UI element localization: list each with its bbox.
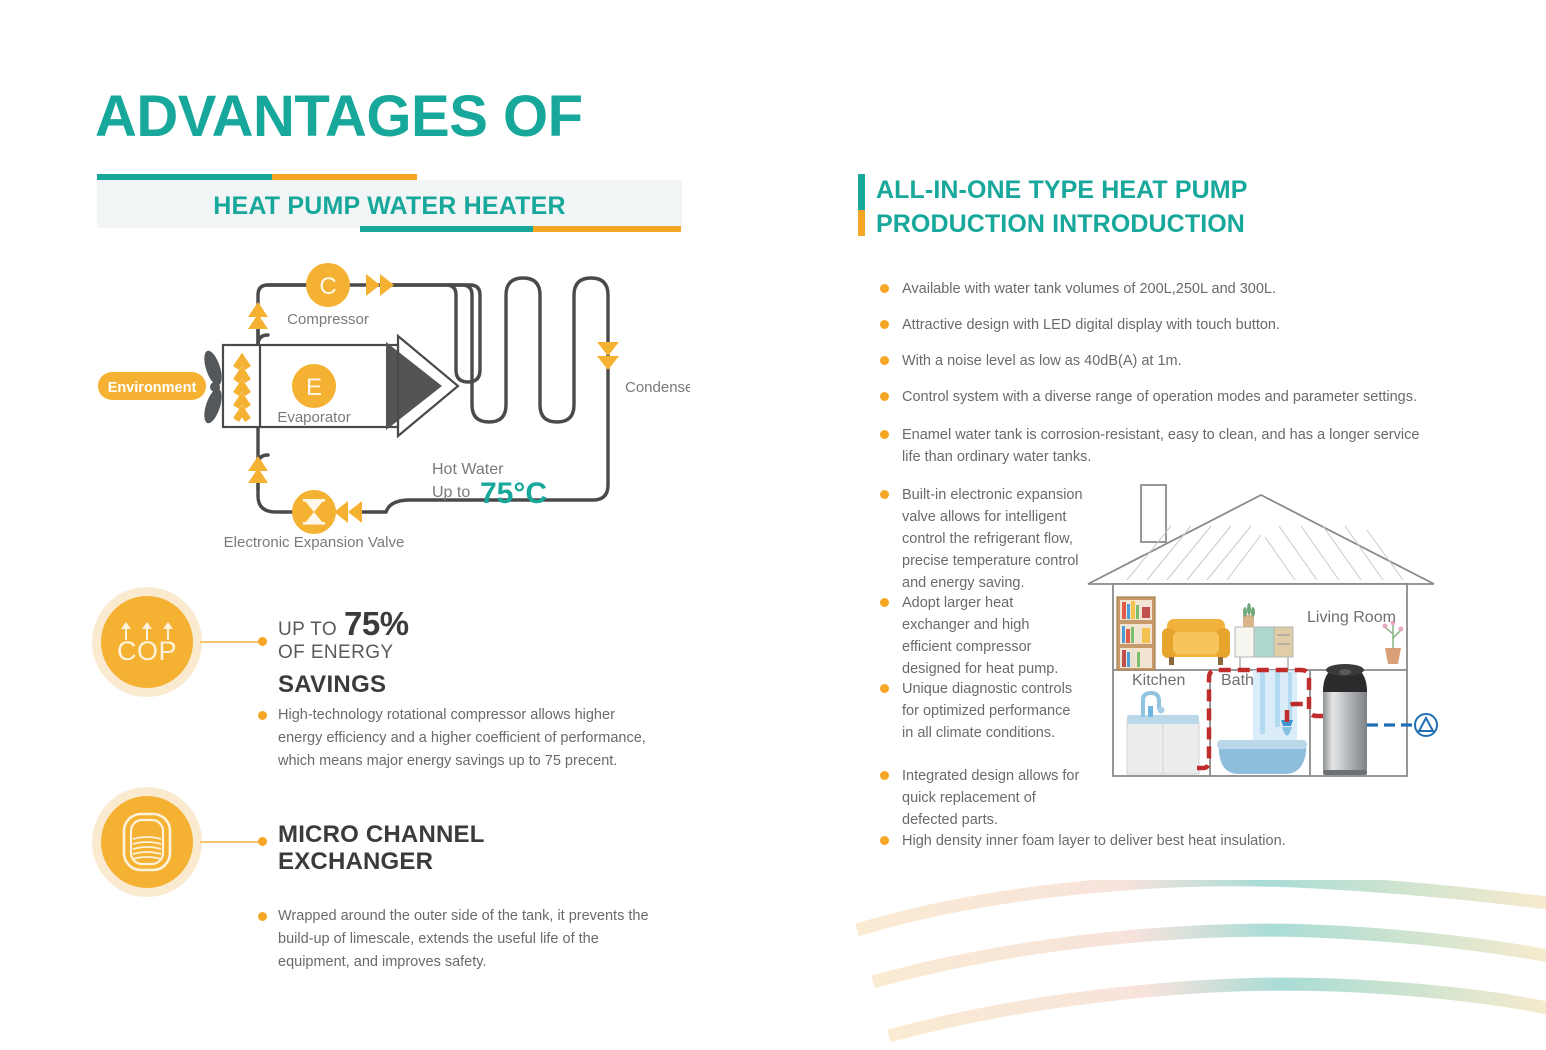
exchanger-note-text: Wrapped around the outer side of the tan…: [278, 905, 658, 974]
list-item: Available with water tank volumes of 200…: [880, 278, 1435, 300]
kpi-prefix: UP TO: [278, 619, 337, 641]
list-item: Enamel water tank is corrosion-resistant…: [880, 424, 1435, 468]
cop-icon: COP: [101, 596, 193, 688]
list-item-text: Enamel water tank is corrosion-resistant…: [902, 424, 1435, 468]
list-item: Built-in electronic expansion valve allo…: [880, 484, 1095, 594]
compressor-label: Compressor: [287, 311, 369, 328]
tank-coil-icon: [101, 796, 193, 888]
exchanger-note: Wrapped around the outer side of the tan…: [258, 905, 658, 974]
infographic-page: ADVANTAGES OF HEAT PUMP WATER HEATER: [0, 0, 1546, 1043]
environment-badge-label: Environment: [108, 380, 197, 396]
list-item-text: High density inner foam layer to deliver…: [902, 830, 1286, 852]
bullet-dot: [258, 711, 267, 720]
list-item-text: Available with water tank volumes of 200…: [902, 278, 1276, 300]
list-item: Control system with a diverse range of o…: [880, 386, 1435, 408]
right-title-accent-bar: [858, 174, 865, 236]
list-item: High density inner foam layer to deliver…: [880, 830, 1435, 852]
bullet-dot: [880, 284, 889, 293]
hot-water-line2: Up to: [432, 484, 470, 501]
list-item-text: Attractive design with LED digital displ…: [902, 314, 1280, 336]
living-room-label: Living Room: [1307, 609, 1396, 626]
svg-text:E: E: [306, 374, 322, 401]
list-item-text: Adopt larger heat exchanger and high eff…: [902, 592, 1080, 680]
cop-connector-dot: [258, 637, 267, 646]
bullet-dot: [880, 836, 889, 845]
cop-connector-line: [200, 641, 261, 643]
rule-top-orange: [272, 174, 417, 180]
kpi-bold: SAVINGS: [278, 671, 409, 699]
list-item-text: Unique diagnostic controls for optimized…: [902, 678, 1080, 744]
bullet-dot: [880, 684, 889, 693]
rule-bottom-teal: [360, 226, 533, 232]
list-item: With a noise level as low as 40dB(A) at …: [880, 350, 1435, 372]
bath-label: Bath: [1221, 672, 1254, 689]
bullet-dot: [880, 598, 889, 607]
condenser-label: Condenser: [625, 379, 690, 396]
page-title: ADVANTAGES OF: [95, 88, 583, 146]
rule-top-teal: [97, 174, 272, 180]
hot-water-value: 75°C: [480, 477, 547, 510]
bullet-dot: [880, 392, 889, 401]
bullet-dot: [880, 320, 889, 329]
refrigeration-cycle-diagram: C E Environment Compressor Evaporator El…: [90, 250, 690, 550]
rule-bottom-orange: [533, 226, 681, 232]
cop-note: High-technology rotational compressor al…: [258, 704, 648, 773]
hot-water-line1: Hot Water: [432, 461, 504, 478]
cop-arrows-icon: [120, 620, 174, 640]
decorative-waves: [845, 880, 1546, 1045]
house-cutaway-illustration: Living Room Kitchen Bath: [1085, 482, 1455, 787]
expansion-valve-label: Electronic Expansion Valve: [224, 534, 405, 550]
bullet-dot: [880, 490, 889, 499]
kpi-value: 75%: [344, 605, 409, 643]
bullet-dot: [258, 912, 267, 921]
cop-icon-label: COP: [117, 638, 177, 665]
cop-kpi: UP TO 75% OF ENERGY SAVINGS: [278, 605, 409, 699]
kpi-sub: OF ENERGY: [278, 642, 409, 664]
list-item: Unique diagnostic controls for optimized…: [880, 678, 1080, 744]
bullet-dot: [880, 771, 889, 780]
list-item-text: With a noise level as low as 40dB(A) at …: [902, 350, 1182, 372]
exchanger-connector-line: [200, 841, 261, 843]
bullet-dot: [880, 430, 889, 439]
list-item-text: Integrated design allows for quick repla…: [902, 765, 1095, 831]
right-section-title: ALL-IN-ONE TYPE HEAT PUMP PRODUCTION INT…: [876, 174, 1396, 241]
exchanger-connector-dot: [258, 837, 267, 846]
list-item: Adopt larger heat exchanger and high eff…: [880, 592, 1080, 680]
tank-coil-glyph: [120, 811, 174, 873]
kitchen-label: Kitchen: [1132, 672, 1185, 689]
cop-note-text: High-technology rotational compressor al…: [278, 704, 648, 773]
svg-text:C: C: [319, 273, 336, 300]
evaporator-label: Evaporator: [277, 409, 350, 426]
list-item: Attractive design with LED digital displ…: [880, 314, 1435, 336]
micro-channel-exchanger-title: MICRO CHANNEL EXCHANGER: [278, 822, 538, 876]
list-item: Integrated design allows for quick repla…: [880, 765, 1095, 831]
list-item-text: Built-in electronic expansion valve allo…: [902, 484, 1095, 594]
subtitle: HEAT PUMP WATER HEATER: [97, 186, 682, 226]
bullet-dot: [880, 356, 889, 365]
list-item-text: Control system with a diverse range of o…: [902, 386, 1417, 408]
